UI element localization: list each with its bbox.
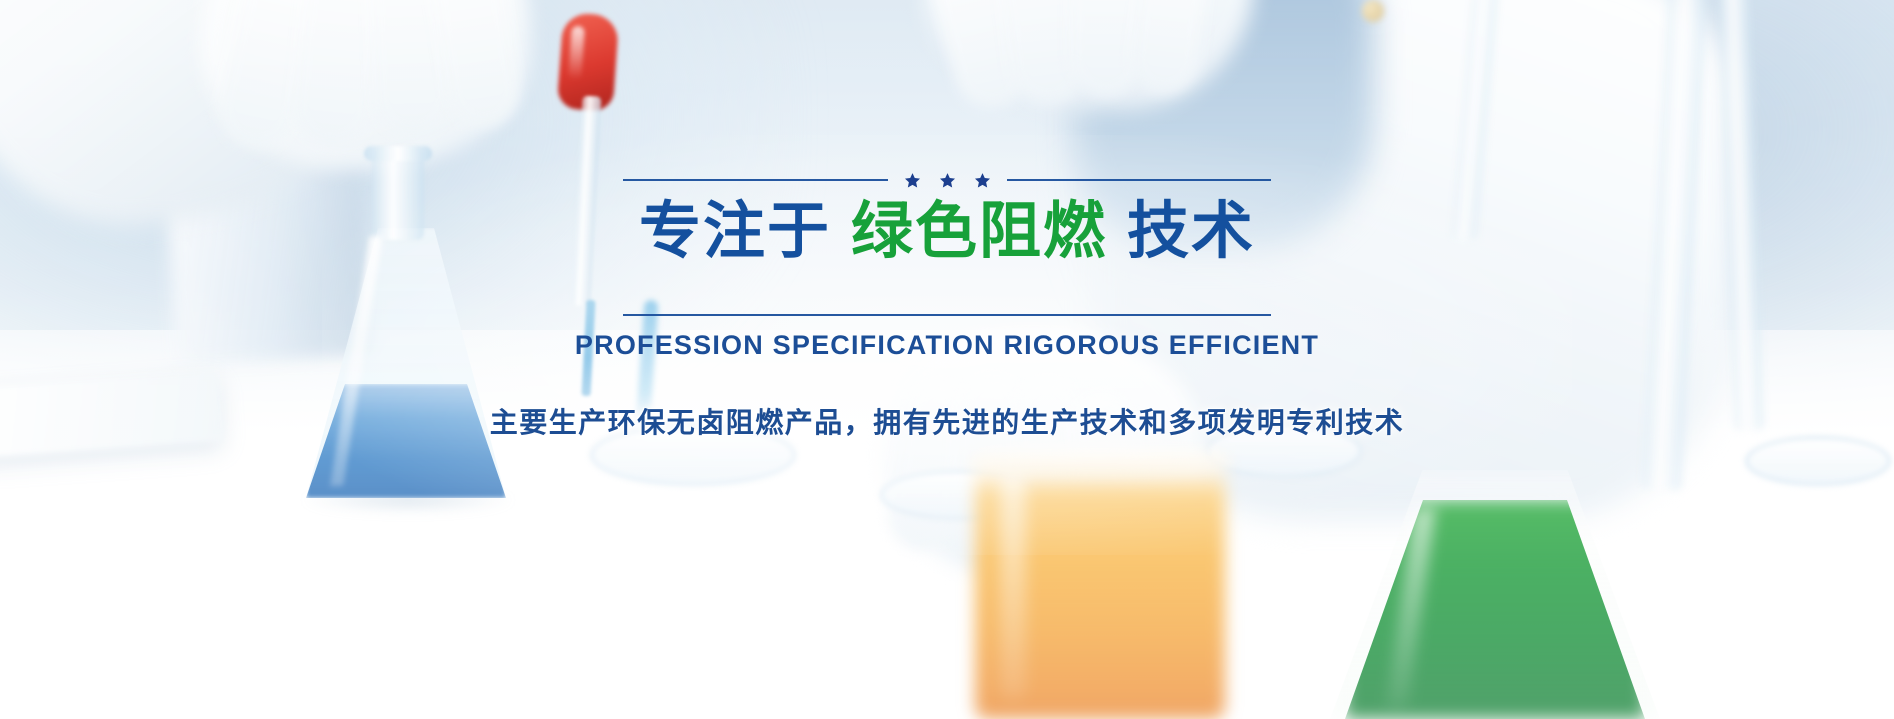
banner-tagline: 主要生产环保无卤阻燃产品，拥有先进的生产技术和多项发明专利技术 — [490, 401, 1405, 441]
divider-line-right — [1007, 179, 1272, 181]
star-icon — [974, 172, 991, 189]
hero-banner: 专注于绿色阻燃技术 PROFESSION SPECIFICATION RIGOR… — [0, 0, 1894, 719]
star-icon — [904, 172, 921, 189]
divider-line-bottom — [623, 314, 1271, 316]
banner-content: 专注于绿色阻燃技术 PROFESSION SPECIFICATION RIGOR… — [0, 0, 1894, 719]
decorative-rule-with-stars — [623, 168, 1271, 192]
star-group — [904, 172, 991, 189]
headline-part-green-flame: 绿色阻燃 — [851, 194, 1107, 267]
headline-part-focus: 专注于 — [639, 194, 831, 267]
banner-headline: 专注于绿色阻燃技术 — [639, 198, 1255, 264]
star-icon — [939, 172, 956, 189]
banner-subtitle-english: PROFESSION SPECIFICATION RIGOROUS EFFICI… — [575, 330, 1319, 361]
headline-part-technology: 技术 — [1127, 194, 1255, 267]
divider-line-left — [623, 179, 888, 181]
